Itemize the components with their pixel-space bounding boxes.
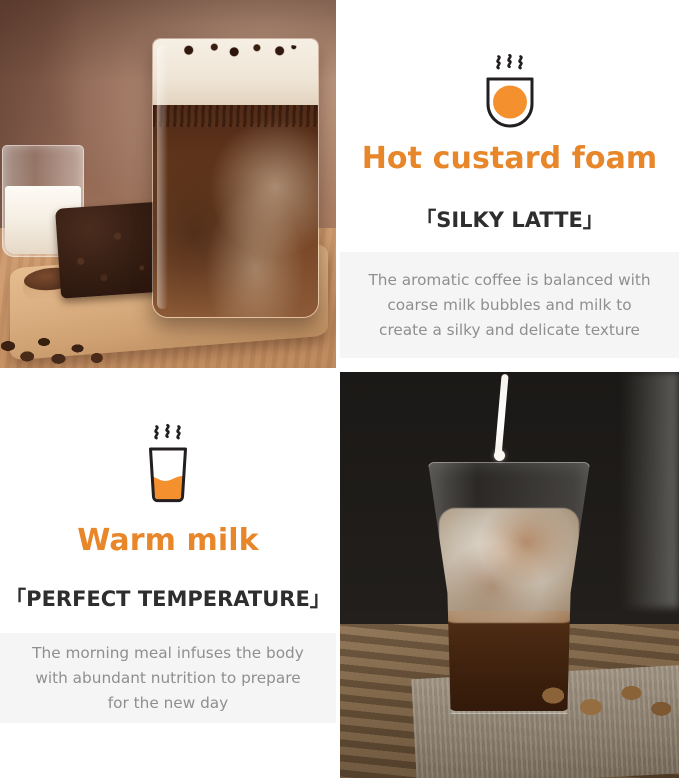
panel-hot-custard-foam: Hot custard foam 「SILKY LATTE」 The aroma…: [340, 0, 679, 368]
panel-body-text: The aromatic coffee is balanced with coa…: [340, 268, 679, 343]
hot-coffee-with-foam-photo: [0, 0, 336, 368]
panel-heading: Hot custard foam: [340, 140, 679, 178]
milk-droplet: [494, 450, 505, 461]
coffee-layer: [153, 101, 318, 317]
coffee-feature-infographic: Hot custard foam 「SILKY LATTE」 The aroma…: [0, 0, 679, 778]
panel-warm-milk: Warm milk 「PERFECT TEMPERATURE」 The morn…: [0, 372, 336, 778]
scattered-coffee-beans: [0, 330, 116, 368]
panel-body-text: The morning meal infuses the body with a…: [0, 641, 336, 716]
ice-and-milk-layer: [439, 508, 580, 623]
panel-body-band: The aromatic coffee is balanced with coa…: [340, 252, 679, 358]
tall-coffee-glass: [152, 38, 319, 318]
glass-highlight: [157, 45, 168, 309]
custard-foam-layer: [153, 39, 318, 105]
background-light-strip: [621, 372, 679, 608]
scattered-coffee-beans-highlight: [537, 678, 673, 722]
hot-cup-with-foam-icon: [476, 50, 544, 128]
panel-body-band: The morning meal infuses the body with a…: [0, 633, 336, 723]
warm-glass-of-milk-icon-wrap: [0, 421, 336, 505]
hot-cup-with-foam-icon-wrap: [340, 50, 679, 128]
warm-glass-of-milk-icon: [134, 421, 202, 505]
panel-subheading: 「SILKY LATTE」: [340, 206, 679, 234]
panel-heading: Warm milk: [0, 522, 336, 560]
iced-coffee-pour-photo: [340, 372, 679, 778]
panel-subheading: 「PERFECT TEMPERATURE」: [0, 585, 336, 613]
